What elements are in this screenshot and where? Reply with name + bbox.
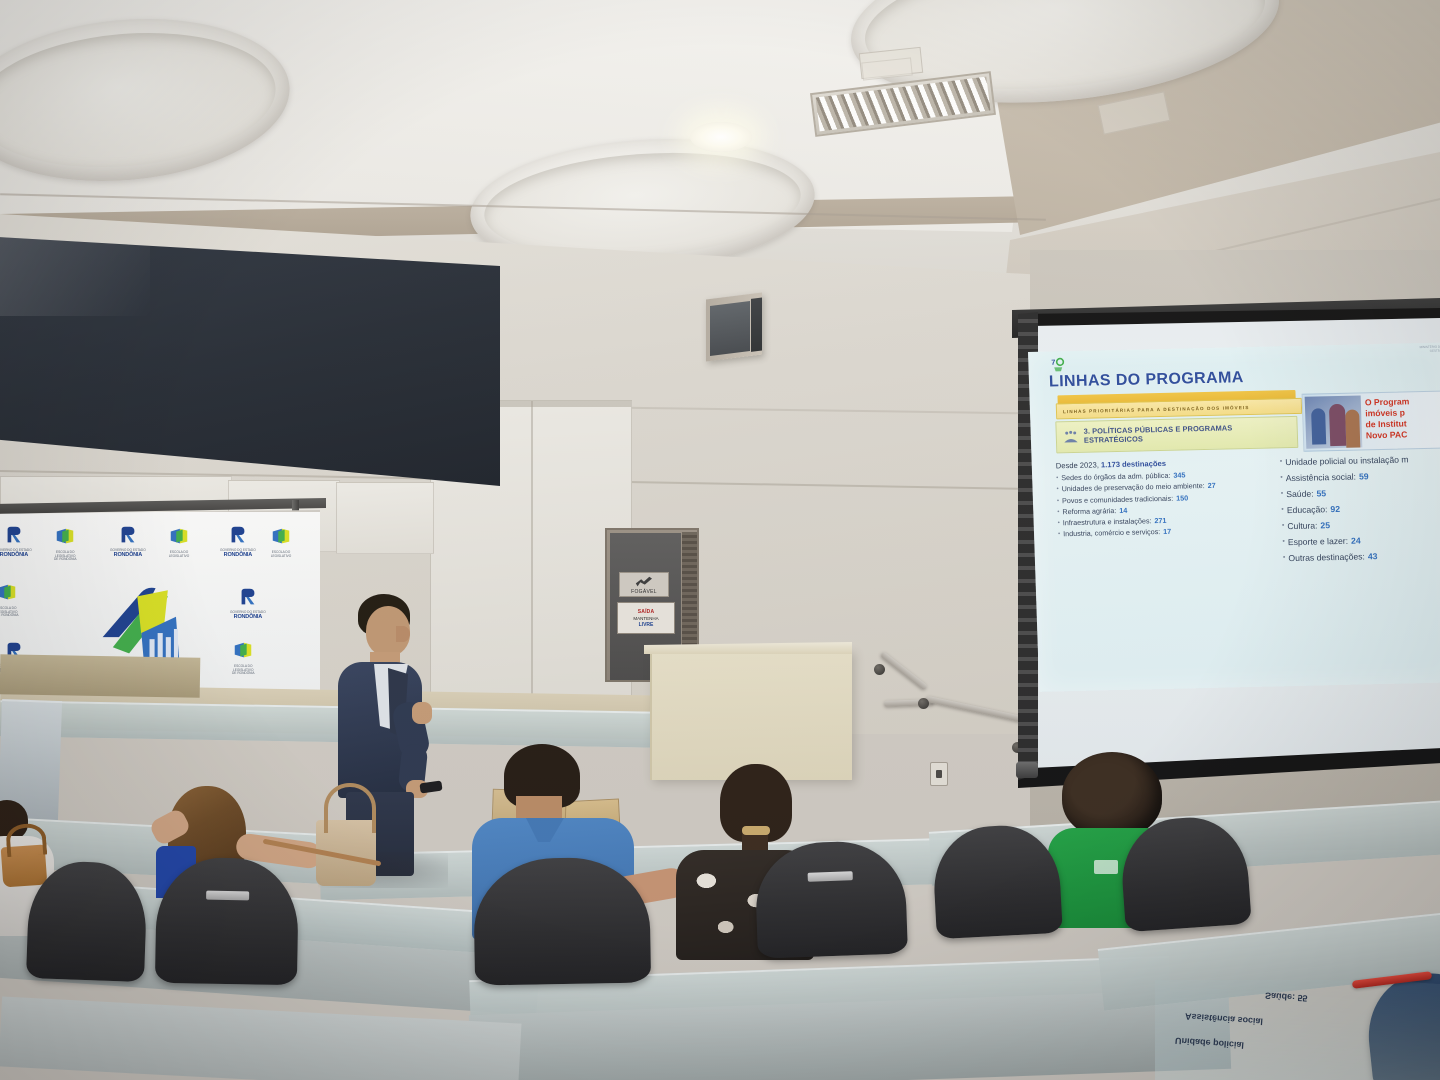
slide-right-bullet-3: •Educação: 92 bbox=[1281, 500, 1440, 518]
slide-title: LINHAS DO PROGRAMA bbox=[1049, 369, 1244, 391]
slide-corner-mark: MINISTÉRIO DAGESTÃO bbox=[1420, 346, 1440, 354]
backdrop-logo-rondonia-3: GOVERNO DO ESTADO RONDÔNIA bbox=[220, 524, 256, 558]
door-pictogram-sign: FOGÁVEL bbox=[619, 572, 669, 597]
door-notice-line3: LIVRE bbox=[639, 622, 654, 628]
slide-left-bullet-value-4: 271 bbox=[1154, 516, 1166, 527]
svg-text:7: 7 bbox=[1051, 358, 1055, 367]
chair-front-left-b[interactable] bbox=[155, 857, 299, 985]
slide-left-bullet-list: •Sedes do órgãos da adm. pública: 345•Un… bbox=[1056, 469, 1273, 541]
bench-wood-trim bbox=[0, 654, 200, 697]
presentation-slide: 7 MINISTÉRIO DAGESTÃO LINHAS DO PROGRAMA… bbox=[1028, 342, 1440, 691]
slide-right-bullet-label-6: Outras destinações: bbox=[1288, 550, 1365, 566]
slide-right-bullet-list: •Unidade policial ou instalação m•Assist… bbox=[1280, 452, 1440, 565]
chair-right-a[interactable] bbox=[931, 823, 1063, 939]
slide-column-left: Desde 2023, 1.173 destinações •Sedes do … bbox=[1056, 457, 1274, 542]
desk-reflection: Unidade policial Assistência social Saúd… bbox=[1155, 980, 1440, 1080]
bullet-dot-icon: • bbox=[1058, 530, 1060, 541]
slide-right-bullet-value-5: 24 bbox=[1351, 534, 1361, 548]
slide-right-bullet-label-2: Saúde: bbox=[1286, 487, 1314, 502]
slide-left-bullet-value-0: 345 bbox=[1173, 470, 1185, 481]
promo-line-4: Novo PAC bbox=[1366, 428, 1440, 441]
handrail-mount-a bbox=[874, 664, 885, 675]
slide-right-bullet-value-2: 55 bbox=[1316, 487, 1326, 501]
auditorium-scene: FOGÁVEL SAÍDA MANTENHA LIVRE GOVERNO DO … bbox=[0, 0, 1440, 1080]
slide-brand-logo-icon: 7 bbox=[1050, 357, 1069, 373]
presentation-clicker[interactable] bbox=[419, 781, 442, 794]
chair-front-left-a[interactable] bbox=[26, 860, 148, 982]
chair-center-a[interactable] bbox=[473, 856, 651, 985]
slide-section-banner: 3. POLÍTICAS PÚBLICAS E PROGRAMAS ESTRAT… bbox=[1055, 416, 1298, 453]
lead-strong: 1.173 destinações bbox=[1101, 459, 1166, 469]
wall-panel-c bbox=[336, 482, 434, 554]
slide-left-bullet-label-3: Reforma agrária: bbox=[1062, 506, 1116, 518]
chair-center-b[interactable] bbox=[754, 839, 908, 958]
backdrop-logo-rondonia-1: GOVERNO DO ESTADO RONDÔNIA bbox=[0, 524, 32, 558]
slide-right-bullet-value-1: 59 bbox=[1359, 470, 1369, 484]
handrail-mount-b bbox=[918, 698, 929, 709]
backdrop-logo-escola-3: ESCOLA DOLEGISLATIVO bbox=[270, 526, 292, 558]
slide-left-bullet-value-1: 27 bbox=[1208, 481, 1216, 492]
backdrop-logo-escola-4: ESCOLA DOLEGISLATIVODE RONDÔNIA bbox=[0, 582, 19, 617]
slide-section-label: 3. POLÍTICAS PÚBLICAS E PROGRAMAS ESTRAT… bbox=[1084, 422, 1294, 445]
door-notice-line2: MANTENHA bbox=[633, 616, 658, 621]
door-notice-line1: SAÍDA bbox=[638, 609, 655, 615]
promo-photo bbox=[1305, 395, 1363, 448]
bullet-dot-icon: • bbox=[1057, 507, 1059, 518]
tshirt-graphic bbox=[1094, 860, 1118, 874]
slide-right-bullet-5: •Esporte e lazer: 24 bbox=[1282, 532, 1440, 550]
bullet-dot-icon: • bbox=[1057, 496, 1059, 507]
slide-promo-image: O Program imóveis p de Institut Novo PAC bbox=[1302, 390, 1440, 451]
backdrop-logo-text-5: RONDÔNIA bbox=[230, 615, 266, 621]
backdrop-logo-text-3: RONDÔNIA bbox=[220, 553, 256, 559]
slide-right-bullet-6: •Outras destinações: 43 bbox=[1283, 548, 1440, 566]
bullet-dot-icon: • bbox=[1283, 552, 1286, 566]
slide-left-bullet-value-2: 150 bbox=[1176, 493, 1188, 504]
door-sign-label: FOGÁVEL bbox=[631, 589, 657, 595]
slide-left-bullet-label-5: Industria, comércio e serviços: bbox=[1063, 528, 1160, 541]
bullet-dot-icon: • bbox=[1056, 473, 1058, 484]
ceiling-light-center bbox=[690, 122, 752, 152]
slide-right-bullet-2: •Saúde: 55 bbox=[1281, 484, 1440, 502]
handbag-beige bbox=[316, 820, 376, 886]
bullet-dot-icon: • bbox=[1280, 456, 1283, 470]
bullet-dot-icon: • bbox=[1280, 472, 1283, 486]
slide-right-bullet-0: •Unidade policial ou instalação m bbox=[1280, 452, 1440, 470]
slide-right-bullet-1: •Assistência social: 59 bbox=[1280, 468, 1440, 486]
bullet-dot-icon: • bbox=[1281, 504, 1284, 518]
bullet-dot-icon: • bbox=[1058, 519, 1060, 530]
presenter-face bbox=[396, 626, 410, 642]
lectern-podium bbox=[650, 650, 852, 780]
hair-clip bbox=[742, 826, 770, 835]
bullet-dot-icon: • bbox=[1056, 485, 1058, 496]
backdrop-logo-rondonia-5: GOVERNO DO ESTADO RONDÔNIA bbox=[230, 586, 266, 620]
slide-right-bullet-label-1: Assistência social: bbox=[1286, 471, 1357, 487]
bullet-dot-icon: • bbox=[1281, 488, 1284, 502]
slide-right-bullet-value-6: 43 bbox=[1368, 550, 1378, 564]
slide-right-bullet-label-5: Esporte e lazer: bbox=[1288, 534, 1349, 549]
chair-right-b[interactable] bbox=[1118, 814, 1251, 933]
promo-text-block: O Program imóveis p de Institut Novo PAC bbox=[1365, 395, 1440, 441]
presenter-hand-right bbox=[412, 702, 432, 724]
projector-screen-pull-knob[interactable] bbox=[1016, 762, 1038, 778]
backdrop-logo-text-2: RONDÔNIA bbox=[110, 553, 146, 559]
slide-right-bullet-label-0: Unidade policial ou instalação m bbox=[1285, 453, 1409, 470]
backdrop-logo-text-1: RONDÔNIA bbox=[0, 553, 32, 559]
wall-outlet[interactable] bbox=[930, 762, 948, 786]
backdrop-logo-escola-5: ESCOLA DOLEGISLATIVODE RONDÔNIA bbox=[232, 640, 255, 675]
backdrop-logo-escola-1: ESCOLA DOLEGISLATIVODE RONDÔNIA bbox=[54, 526, 77, 561]
backdrop-logo-rondonia-2: GOVERNO DO ESTADO RONDÔNIA bbox=[110, 524, 146, 558]
slide-left-bullet-value-5: 17 bbox=[1163, 527, 1171, 538]
slide-right-bullet-value-3: 92 bbox=[1330, 503, 1340, 517]
running-person-icon bbox=[634, 575, 652, 587]
bullet-dot-icon: • bbox=[1282, 536, 1285, 550]
wall-speaker bbox=[706, 293, 762, 362]
slide-left-bullet-value-3: 14 bbox=[1119, 506, 1127, 517]
door-notice-sign: SAÍDA MANTENHA LIVRE bbox=[617, 602, 675, 634]
backdrop-logo-escola-2: ESCOLA DOLEGISLATIVO bbox=[168, 526, 190, 558]
people-group-icon bbox=[1062, 429, 1081, 445]
slide-column-right: •Unidade policial ou instalação m•Assist… bbox=[1280, 452, 1440, 567]
slide-right-bullet-value-4: 25 bbox=[1320, 519, 1330, 533]
bullet-dot-icon: • bbox=[1282, 520, 1285, 534]
slide-right-bullet-label-3: Educação: bbox=[1287, 503, 1328, 518]
slide-right-bullet-4: •Cultura: 25 bbox=[1282, 516, 1440, 534]
lead-prefix: Desde 2023, bbox=[1056, 460, 1101, 470]
slide-right-bullet-label-4: Cultura: bbox=[1287, 519, 1318, 534]
